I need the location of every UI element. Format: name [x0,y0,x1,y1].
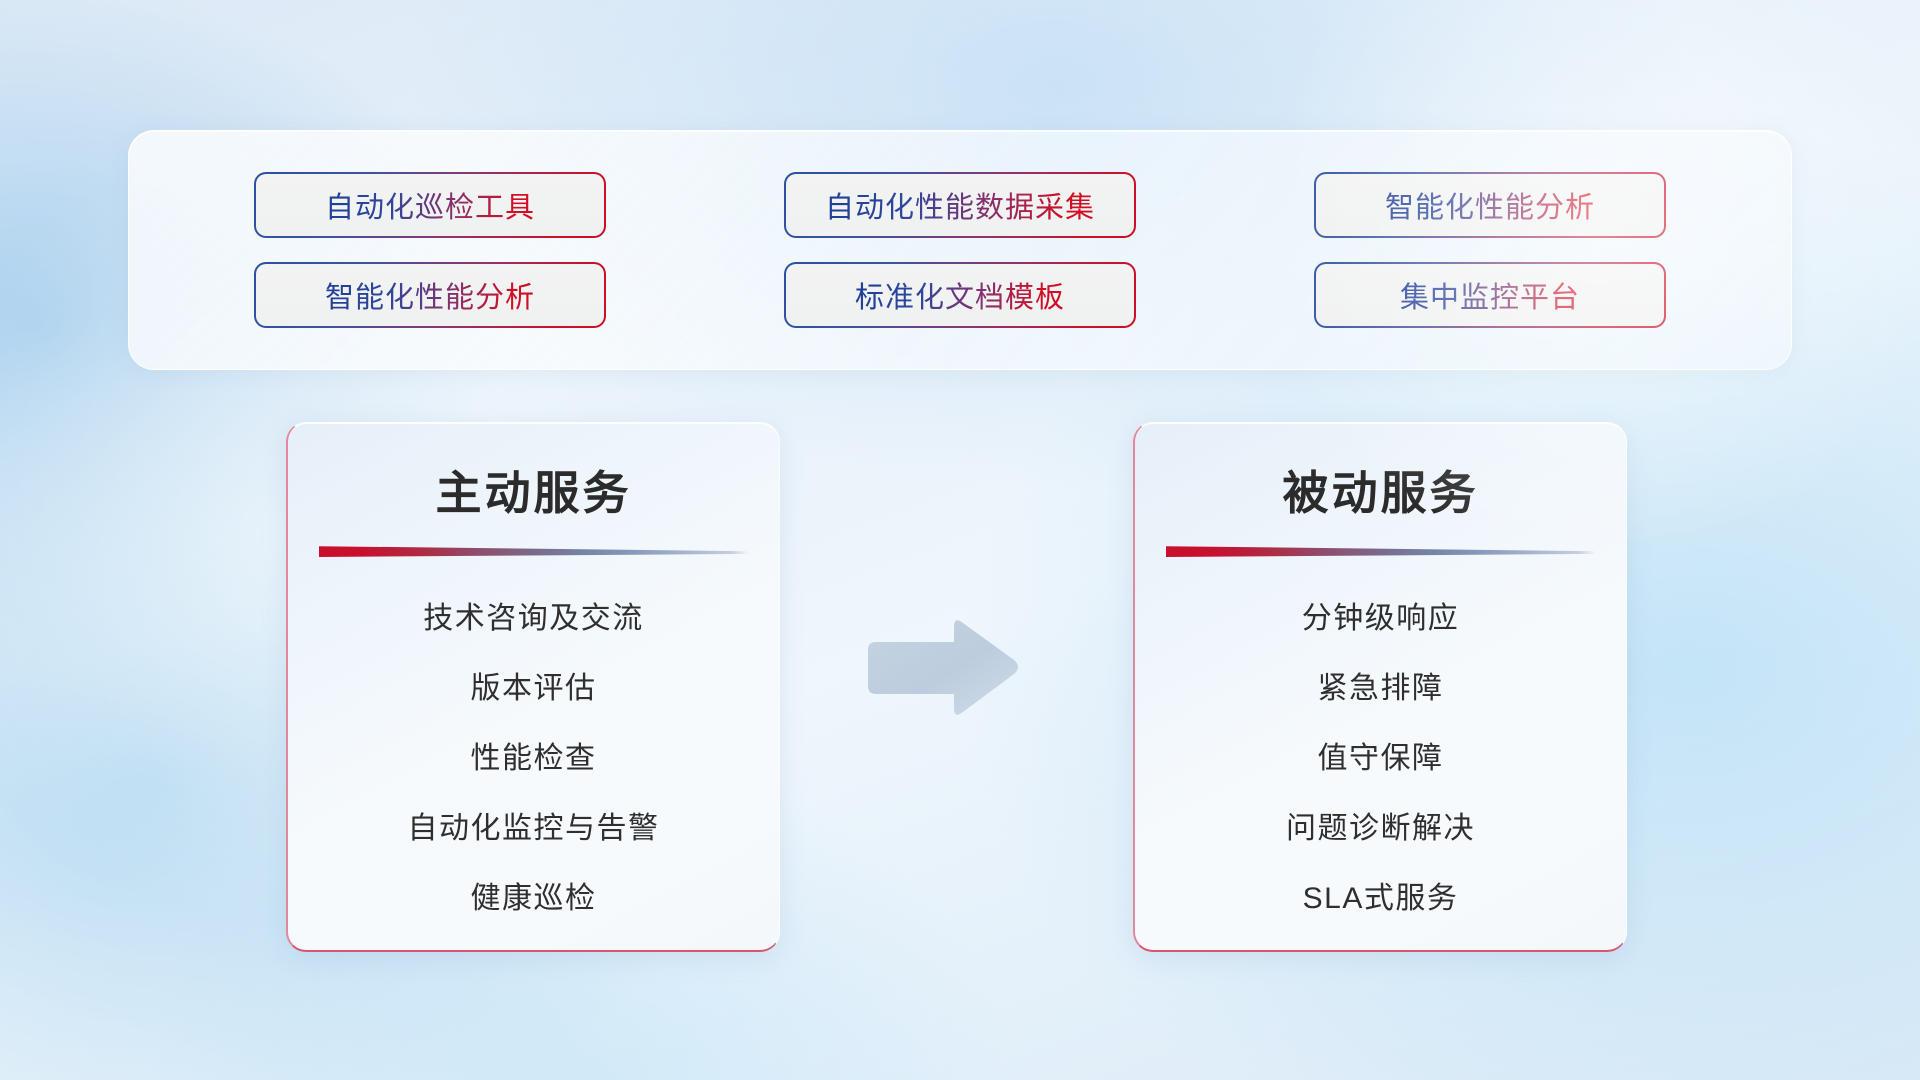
capability-pill[interactable]: 标准化文档模板 [784,262,1136,328]
right-arrow-icon [862,614,1022,722]
service-item: 自动化监控与告警 [408,803,660,847]
service-item: SLA式服务 [1303,873,1459,917]
capability-pill-label: 自动化性能数据采集 [825,184,1095,226]
service-card-reactive: 被动服务 分钟级响应 紧急排障 值守保障 问题诊断解决 SLA式服务 [1133,422,1627,952]
service-item: 分钟级响应 [1302,593,1460,637]
capability-pill[interactable]: 智能化性能分析 [1314,172,1666,238]
capability-pill[interactable]: 自动化性能数据采集 [784,172,1136,238]
service-item: 值守保障 [1318,733,1444,777]
capability-pill[interactable]: 智能化性能分析 [254,262,606,328]
capability-pill-label: 智能化性能分析 [325,274,535,316]
divider-bar [319,545,749,557]
capability-pill-label: 自动化巡检工具 [325,184,535,226]
service-item-list: 分钟级响应 紧急排障 值守保障 问题诊断解决 SLA式服务 [1135,593,1626,917]
capability-pill-label: 智能化性能分析 [1385,184,1595,226]
capability-pill[interactable]: 自动化巡检工具 [254,172,606,238]
service-item: 性能检查 [471,733,597,777]
service-item: 版本评估 [471,663,597,707]
service-item: 问题诊断解决 [1286,803,1475,847]
service-item: 健康巡检 [471,873,597,917]
card-title: 主动服务 [288,457,779,523]
card-divider [1166,545,1596,557]
service-item: 技术咨询及交流 [423,593,644,637]
service-card-proactive: 主动服务 技术咨询及交流 版本评估 性能检查 自动化监控与告警 健康巡检 [286,422,780,952]
divider-bar [1166,545,1596,557]
capability-pill[interactable]: 集中监控平台 [1314,262,1666,328]
capabilities-panel: 自动化巡检工具 自动化性能数据采集 智能化性能分析 智能化性能分析 标准化文档模… [128,130,1792,370]
capabilities-row-2: 智能化性能分析 标准化文档模板 集中监控平台 [165,262,1755,328]
card-divider [319,545,749,557]
capability-pill-label: 集中监控平台 [1400,274,1580,316]
capabilities-row-1: 自动化巡检工具 自动化性能数据采集 智能化性能分析 [165,172,1755,238]
service-item: 紧急排障 [1318,663,1444,707]
capability-pill-label: 标准化文档模板 [855,274,1065,316]
service-item-list: 技术咨询及交流 版本评估 性能检查 自动化监控与告警 健康巡检 [288,593,779,917]
card-title: 被动服务 [1135,457,1626,523]
diagram-canvas: 自动化巡检工具 自动化性能数据采集 智能化性能分析 智能化性能分析 标准化文档模… [0,0,1920,1080]
